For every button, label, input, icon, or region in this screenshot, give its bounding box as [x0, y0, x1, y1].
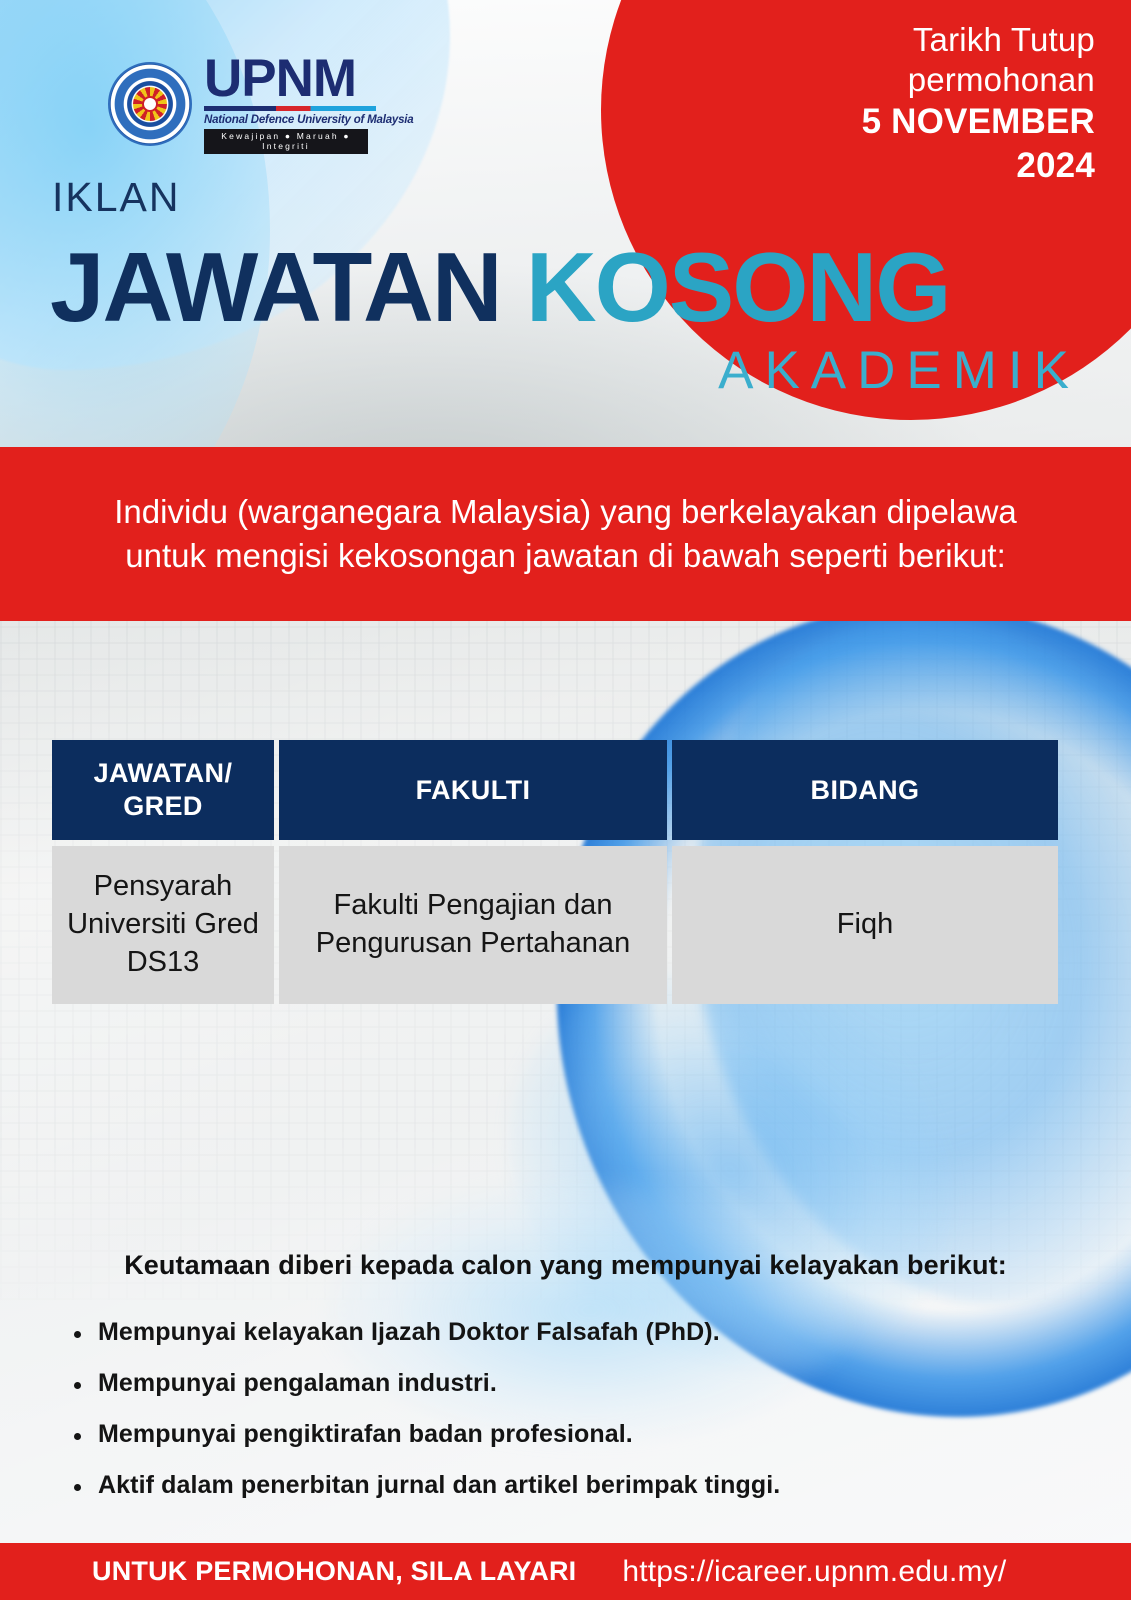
list-item: Mempunyai pengalaman industri. [68, 1369, 1048, 1398]
logo-subtitle: National Defence University of Malaysia [204, 114, 414, 126]
intro-line-1: Individu (warganegara Malaysia) yang ber… [114, 490, 1017, 534]
intro-line-2: untuk mengisi kekosongan jawatan di bawa… [114, 534, 1017, 578]
footer-label: UNTUK PERMOHONAN, SILA LAYARI [92, 1556, 576, 1587]
title-word-2: KOSONG [526, 232, 950, 342]
job-vacancy-poster: Tarikh Tutup permohonan 5 NOVEMBER 2024 … [0, 0, 1131, 1600]
deadline-line-2: permohonan [765, 60, 1095, 100]
list-item: Aktif dalam penerbitan jurnal dan artike… [68, 1471, 1048, 1500]
intro-text: Individu (warganegara Malaysia) yang ber… [114, 490, 1017, 577]
deadline-date: 5 NOVEMBER [765, 101, 1095, 143]
qualifications-list: Mempunyai kelayakan Ijazah Doktor Falsaf… [68, 1318, 1048, 1522]
table-header-fakulti: FAKULTI [279, 740, 667, 840]
table-header-row: JAWATAN/ GRED FAKULTI BIDANG [52, 740, 1058, 840]
title-subtitle: AKADEMIK [50, 340, 1090, 401]
vacancy-table: JAWATAN/ GRED FAKULTI BIDANG Pensyarah U… [52, 740, 1058, 1004]
list-item: Mempunyai pengiktirafan badan profesiona… [68, 1420, 1048, 1449]
page-eyebrow: IKLAN [52, 174, 181, 221]
table-cell-fakulti: Fakulti Pengajian dan Pengurusan Pertaha… [279, 846, 667, 1004]
table-header-jawatan-gred: JAWATAN/ GRED [52, 740, 274, 840]
title-word-1: JAWATAN [50, 232, 501, 342]
deadline-year: 2024 [765, 145, 1095, 187]
upnm-crest-icon [108, 62, 192, 146]
logo-name: UPNM [204, 54, 414, 104]
qualifications-title: Keutamaan diberi kepada calon yang mempu… [0, 1250, 1131, 1281]
logo-rule [204, 106, 376, 111]
deadline-block: Tarikh Tutup permohonan 5 NOVEMBER 2024 [765, 20, 1095, 187]
table-row: Pensyarah Universiti Gred DS13 Fakulti P… [52, 846, 1058, 1004]
logo-tagline: Kewajipan ● Maruah ● Integriti [204, 129, 368, 154]
table-header-bidang: BIDANG [672, 740, 1058, 840]
footer-banner: UNTUK PERMOHONAN, SILA LAYARI https://ic… [0, 1543, 1131, 1600]
list-item: Mempunyai kelayakan Ijazah Doktor Falsaf… [68, 1318, 1048, 1347]
deadline-line-1: Tarikh Tutup [765, 20, 1095, 60]
application-url-link[interactable]: https://icareer.upnm.edu.my/ [622, 1555, 1006, 1589]
intro-banner: Individu (warganegara Malaysia) yang ber… [0, 447, 1131, 621]
table-cell-bidang: Fiqh [672, 846, 1058, 1004]
page-title: JAWATAN KOSONG AKADEMIK [50, 238, 1090, 401]
table-cell-jawatan-gred: Pensyarah Universiti Gred DS13 [52, 846, 274, 1004]
upnm-wordmark: UPNM National Defence University of Mala… [204, 54, 414, 154]
upnm-logo: UPNM National Defence University of Mala… [108, 54, 414, 154]
